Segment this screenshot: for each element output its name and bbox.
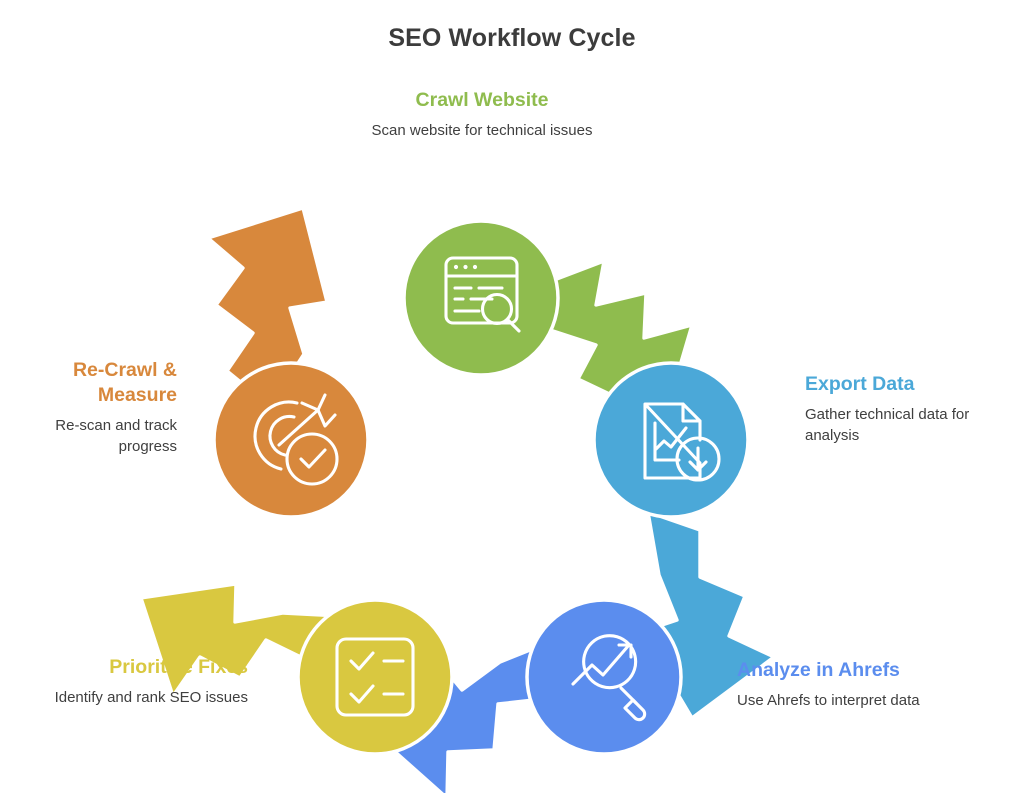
cycle-node-crawl-website[interactable] — [404, 221, 558, 375]
node-label-export-data: Export Data Gather technical data for an… — [805, 372, 1010, 447]
node-description-crawl-website: Scan website for technical issues — [337, 120, 627, 141]
node-label-analyze-ahrefs: Analyze in Ahrefs Use Ahrefs to interpre… — [737, 658, 1009, 711]
node-label-prioritize-fixes: Prioritize Fixes Identify and rank SEO i… — [36, 655, 248, 708]
cycle-diagram: Crawl Website Scan website for technical… — [0, 0, 1024, 793]
cycle-node-prioritize-fixes[interactable] — [298, 600, 452, 754]
node-title-export-data: Export Data — [805, 372, 1010, 397]
node-description-analyze-ahrefs: Use Ahrefs to interpret data — [737, 690, 1009, 711]
node-description-prioritize-fixes: Identify and rank SEO issues — [36, 687, 248, 708]
node-title-analyze-ahrefs: Analyze in Ahrefs — [737, 658, 1009, 683]
node-description-recrawl-measure: Re-scan and track progress — [24, 415, 177, 458]
cycle-node-recrawl-measure[interactable] — [214, 363, 368, 517]
node-title-recrawl-measure: Re-Crawl & Measure — [24, 358, 177, 408]
cycle-node-export-data[interactable] — [594, 363, 748, 517]
node-label-recrawl-measure: Re-Crawl & Measure Re-scan and track pro… — [24, 358, 177, 458]
node-description-export-data: Gather technical data for analysis — [805, 404, 1010, 447]
node-title-crawl-website: Crawl Website — [337, 88, 627, 113]
node-circle[interactable] — [214, 363, 368, 517]
node-label-crawl-website: Crawl Website Scan website for technical… — [337, 88, 627, 141]
node-title-prioritize-fixes: Prioritize Fixes — [36, 655, 248, 680]
node-circle[interactable] — [594, 363, 748, 517]
cycle-node-analyze-ahrefs[interactable] — [527, 600, 681, 754]
node-circle[interactable] — [298, 600, 452, 754]
node-circle[interactable] — [527, 600, 681, 754]
